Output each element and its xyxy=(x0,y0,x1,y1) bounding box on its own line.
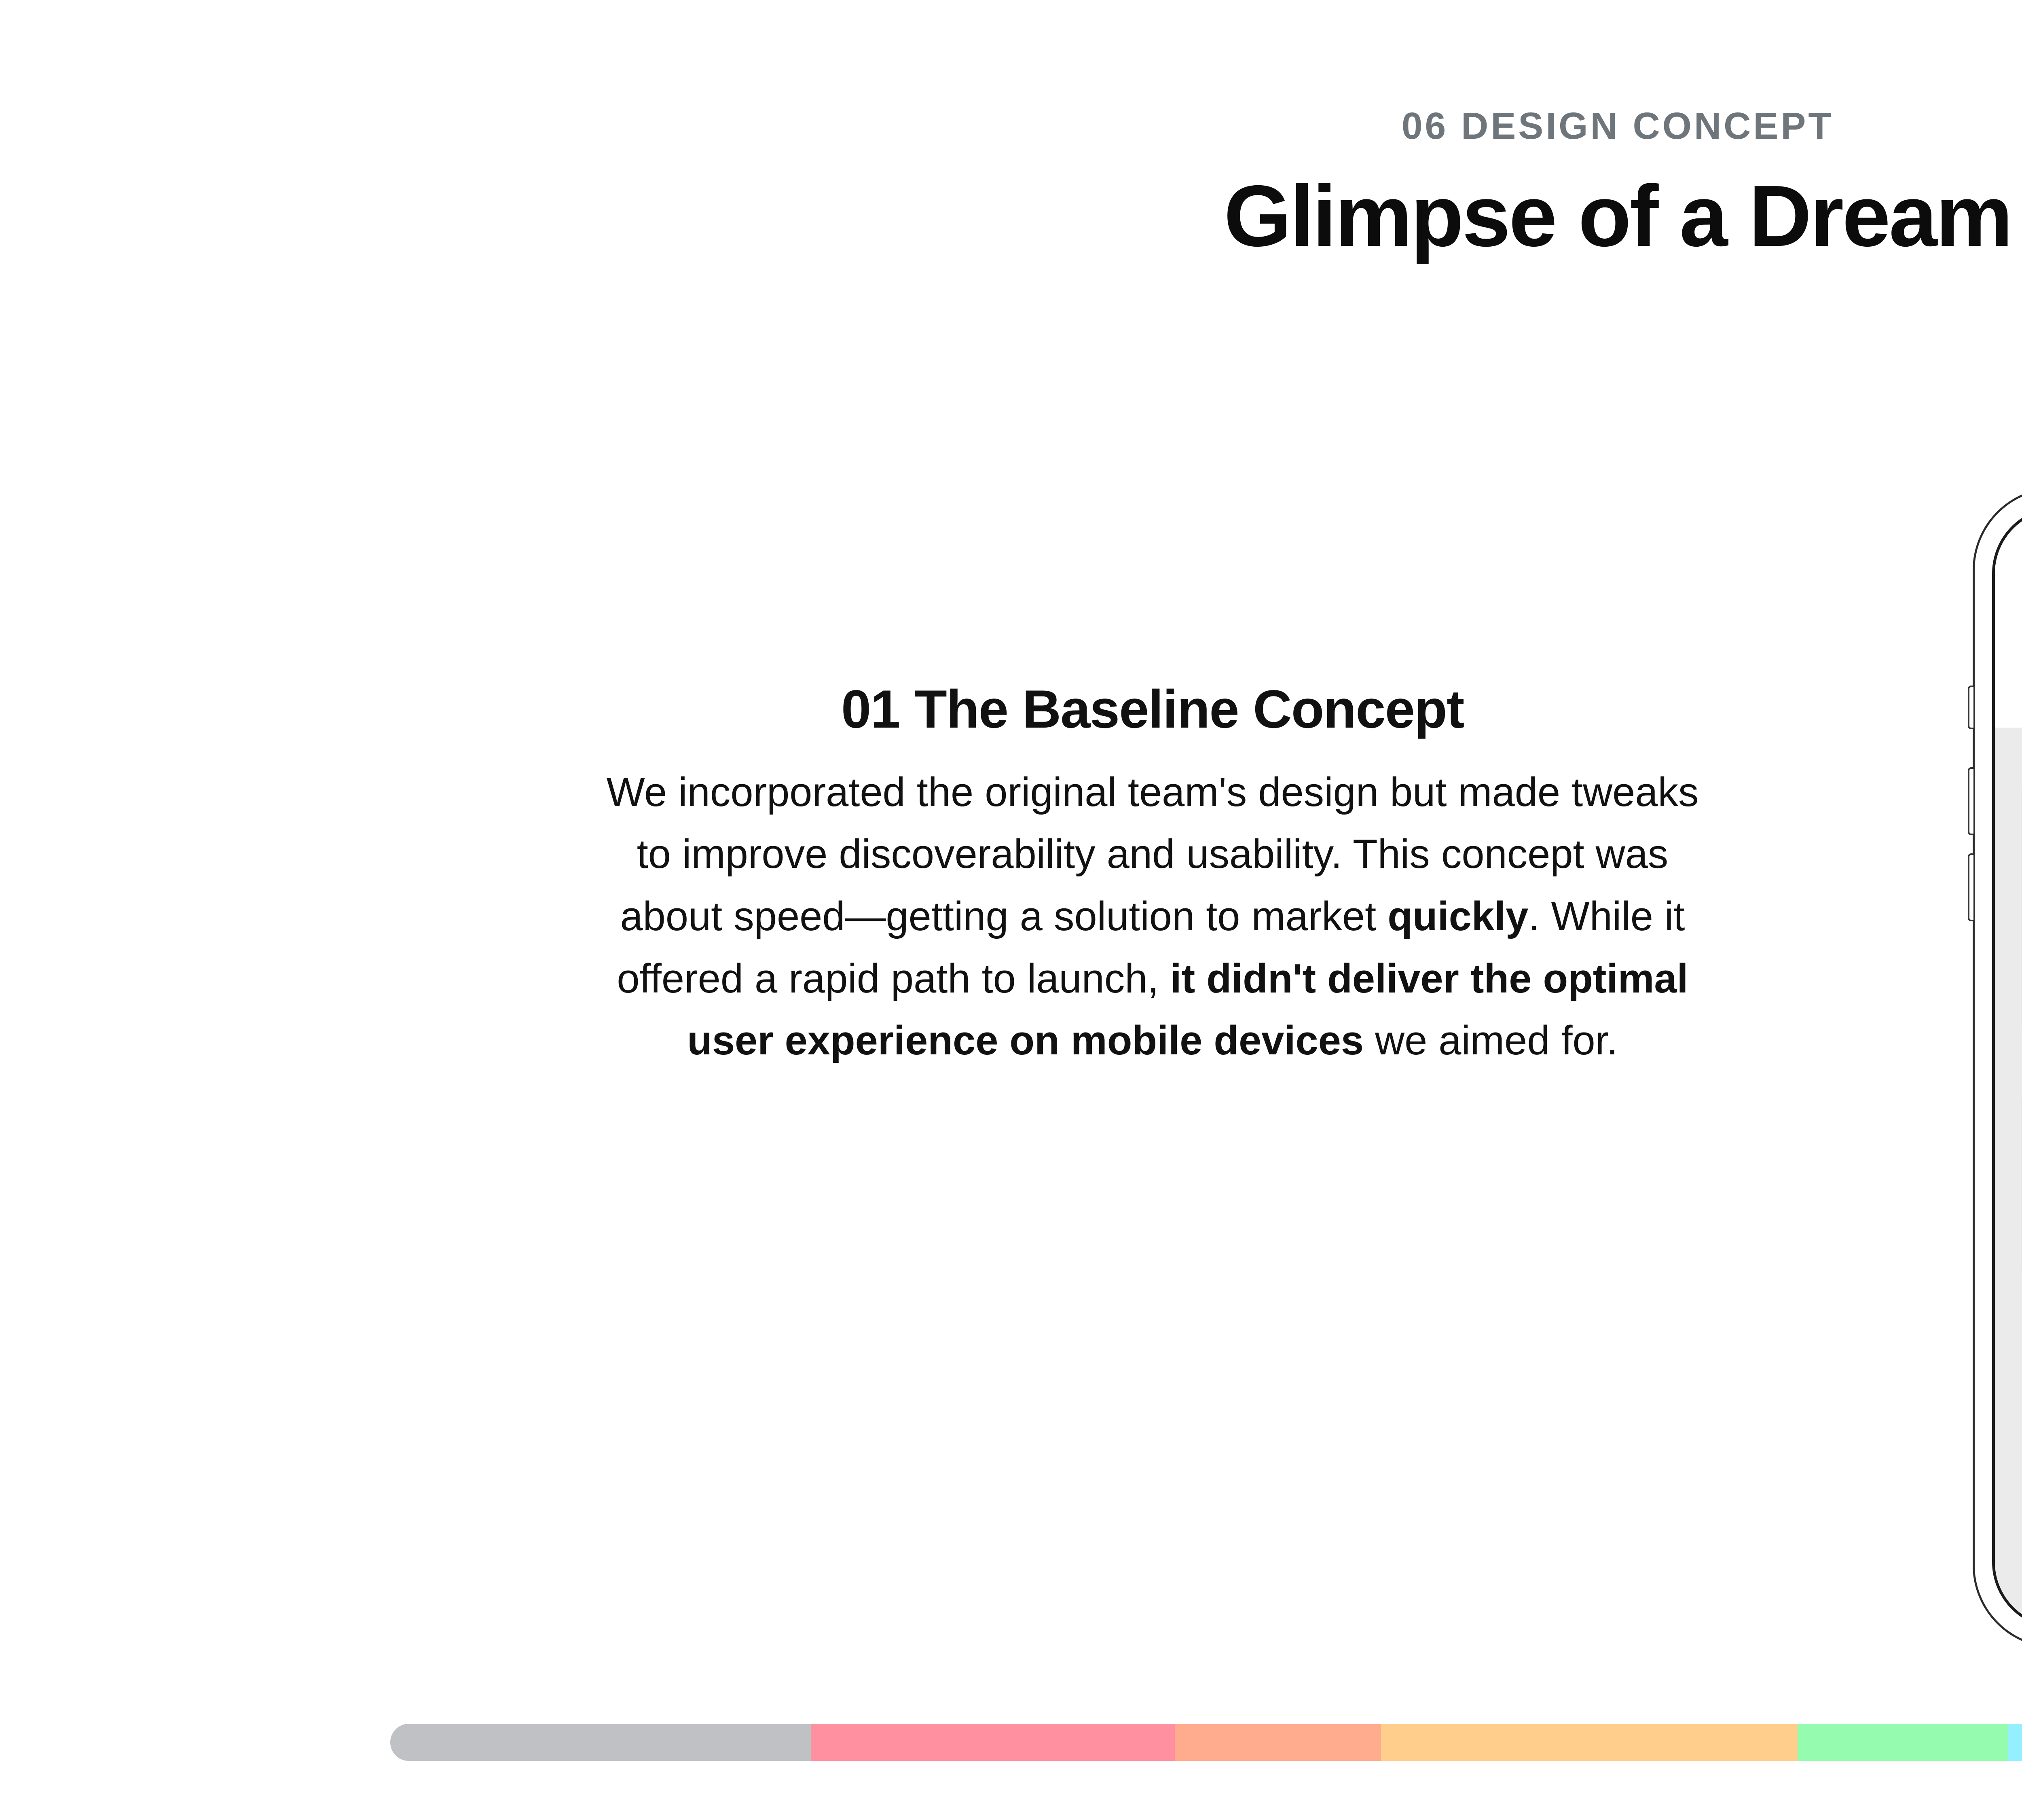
screen-title-spacer xyxy=(1995,669,2022,728)
screen-title-wrap: Your Money Report xyxy=(1995,616,2022,669)
page-title: Glimpse of a Dream xyxy=(0,169,2022,263)
color-segment-gray xyxy=(390,1724,811,1761)
phone-screen-bezel: 9:41 xyxy=(1992,507,2022,1629)
color-segment-cyan xyxy=(2008,1724,2022,1761)
phone-mockup: 9:41 xyxy=(1973,487,2022,1648)
color-segment-orange xyxy=(1381,1724,1798,1761)
color-segment-salmon xyxy=(1175,1724,1381,1761)
body-bold-1: quickly xyxy=(1387,894,1528,939)
status-bar: 9:41 xyxy=(1995,510,2022,570)
volume-up-button[interactable] xyxy=(1968,767,1973,835)
concept-copy-block: 01 The Baseline Concept We incorporated … xyxy=(586,679,1719,1072)
volume-down-button[interactable] xyxy=(1968,853,1973,921)
slide-header: 06 DESIGN CONCEPT Glimpse of a Dream xyxy=(0,0,2022,263)
content-scroll-area[interactable]: AVAILABLE REPORTS December 2021 November… xyxy=(1995,728,2022,1587)
body-text-3: we aimed for. xyxy=(1364,1018,1618,1063)
phone-screen: 9:41 xyxy=(1995,510,2022,1626)
nav-bar xyxy=(1995,570,2022,616)
slide-eyebrow: 06 DESIGN CONCEPT xyxy=(0,107,2022,145)
silent-switch-button[interactable] xyxy=(1968,686,1973,729)
home-indicator-wrap xyxy=(1995,1587,2022,1626)
color-segment-pink xyxy=(811,1724,1175,1761)
color-segment-green xyxy=(1798,1724,2008,1761)
progress-color-bar xyxy=(390,1724,2022,1761)
concept-heading: 01 The Baseline Concept xyxy=(586,679,1719,740)
concept-body: We incorporated the original team's desi… xyxy=(586,762,1719,1072)
